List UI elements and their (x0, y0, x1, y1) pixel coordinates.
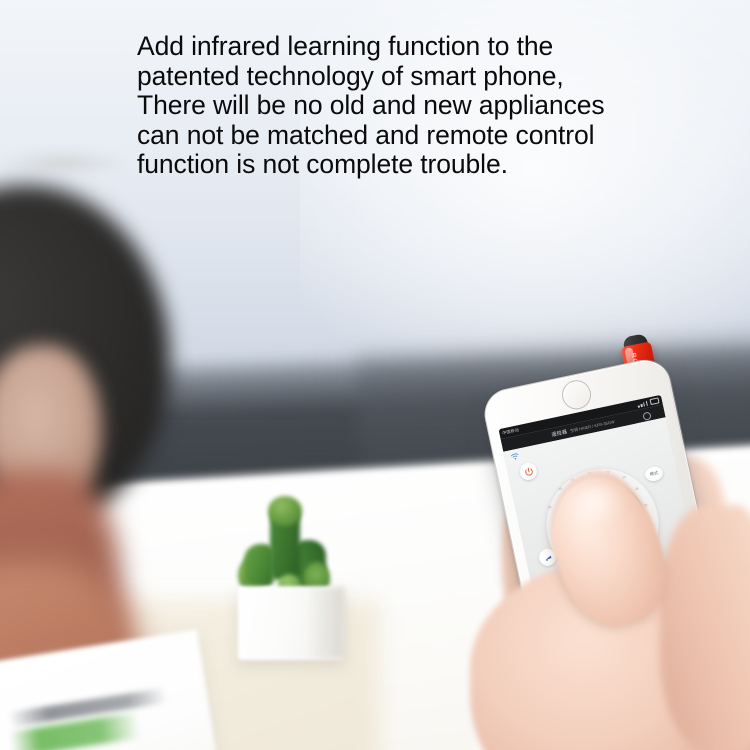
cactus-plant (232, 500, 352, 660)
pot-shadow (0, 150, 130, 176)
fan-blade-icon (542, 551, 554, 563)
ir-signal-icon (510, 452, 520, 462)
mode-button-label: 模式 (649, 470, 659, 478)
power-button[interactable] (518, 461, 538, 481)
app-title: 遥控器 (551, 428, 568, 438)
mode-button[interactable]: 模式 (644, 465, 665, 482)
dial-tick-24: 24 (622, 475, 627, 480)
dial-tick-26: 26 (635, 486, 640, 491)
signal-bar-2 (641, 404, 643, 407)
product-marketing-image: ROCK 中国移动 遥控器 空调 HAIER / (0, 0, 750, 750)
signal-bar-4 (646, 401, 648, 406)
battery-icon (650, 397, 660, 405)
power-icon (522, 466, 534, 478)
signal-bar-1 (638, 405, 640, 407)
headline-text: Add infrared learning function to the pa… (137, 32, 717, 180)
history-icon[interactable] (642, 411, 651, 420)
plant-pot-shading (308, 588, 344, 658)
dial-tick-30: 30 (547, 505, 552, 510)
signal-bar-3 (643, 402, 645, 406)
cactus-crown (268, 496, 302, 526)
hand-outer-edge (660, 505, 750, 750)
